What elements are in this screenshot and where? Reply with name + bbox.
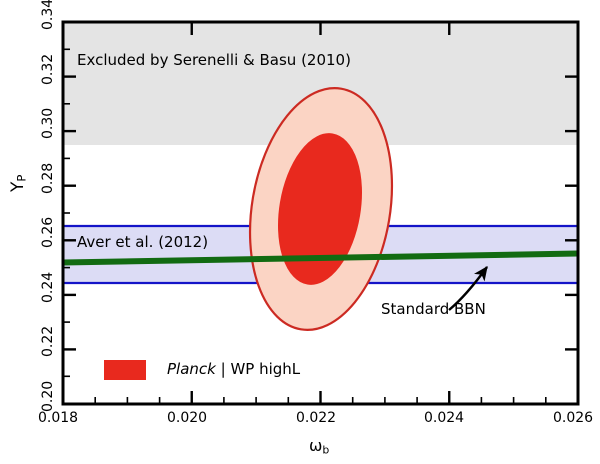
x-axis-label: ωb [309, 436, 329, 456]
y-axis-label-base: Y [8, 182, 28, 192]
y-tick-label-5: 0.30 [40, 108, 56, 139]
x-tick-label-2: 0.022 [296, 410, 336, 426]
chart-figure [0, 0, 600, 464]
y-axis-label: YP [8, 175, 29, 192]
legend-entry-planck: Planck | WP highL [167, 360, 300, 378]
y-axis-label-sub: P [15, 175, 29, 182]
y-tick-label-4: 0.28 [40, 163, 56, 194]
y-tick-label-6: 0.32 [40, 54, 56, 85]
legend-swatch-planck [104, 360, 146, 380]
excluded-region-label: Excluded by Serenelli & Basu (2010) [77, 51, 351, 69]
x-tick-label-4: 0.026 [553, 410, 593, 426]
legend-label-rest: | WP highL [221, 360, 301, 378]
y-tick-label-1: 0.22 [40, 326, 56, 357]
aver-band-label: Aver et al. (2012) [77, 233, 208, 251]
y-tick-label-0: 0.20 [40, 381, 56, 412]
x-axis-label-base: ω [309, 436, 322, 455]
x-tick-label-0: 0.018 [38, 410, 78, 426]
y-tick-label-7: 0.34 [40, 0, 56, 30]
standard-bbn-annotation: Standard BBN [381, 300, 486, 318]
legend-label-italic: Planck [167, 360, 216, 378]
y-tick-label-2: 0.24 [40, 272, 56, 303]
x-tick-label-1: 0.020 [167, 410, 207, 426]
y-tick-label-3: 0.26 [40, 217, 56, 248]
x-tick-label-3: 0.024 [424, 410, 464, 426]
x-axis-label-sub: b [322, 443, 329, 456]
